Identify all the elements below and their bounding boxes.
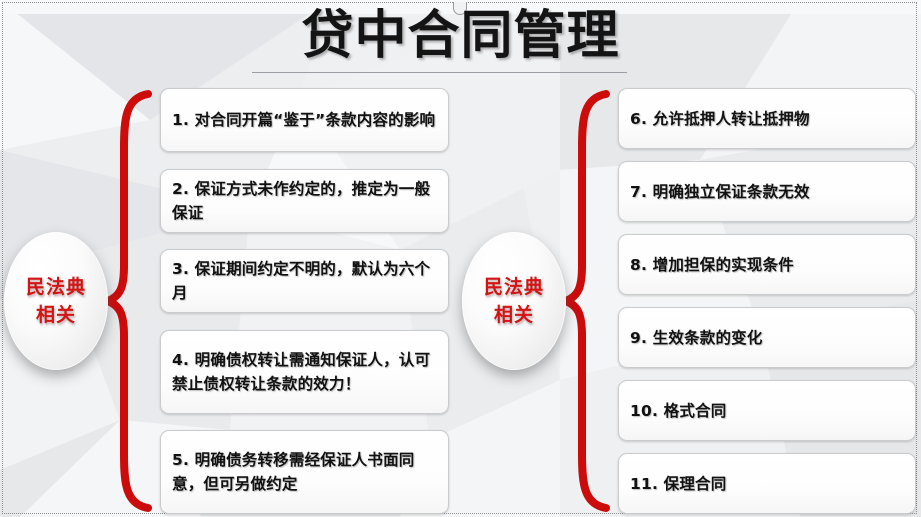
list-item-label: 10. 格式合同: [630, 399, 726, 423]
list-item-label: 3. 保证期间约定不明的，默认为六个月: [172, 257, 439, 305]
badge-left-line1: 民法典: [26, 273, 86, 301]
list-item-label: 5. 明确债务转移需经保证人书面同意，但可另做约定: [172, 448, 439, 496]
list-item-label: 11. 保理合同: [630, 472, 726, 496]
list-item-label: 6. 允许抵押人转让抵押物: [630, 107, 810, 131]
list-item[interactable]: 4. 明确债权转让需通知保证人，认可禁止债权转让条款的效力！: [160, 330, 449, 414]
badge-right-line1: 民法典: [484, 273, 544, 301]
badge-minfadian-right: 民法典 相关: [462, 232, 566, 370]
page-title: 贷中合同管理: [301, 6, 619, 66]
list-item[interactable]: 9. 生效条款的变化: [618, 307, 916, 368]
list-item-label: 9. 生效条款的变化: [630, 326, 763, 350]
curly-brace-left-icon: [104, 88, 156, 514]
list-item[interactable]: 10. 格式合同: [618, 380, 916, 441]
curly-brace-right-icon: [562, 88, 614, 514]
list-item[interactable]: 1. 对合同开篇“鉴于”条款内容的影响: [160, 88, 449, 152]
list-item-label: 1. 对合同开篇“鉴于”条款内容的影响: [172, 108, 435, 132]
list-item[interactable]: 2. 保证方式未作约定的，推定为一般保证: [160, 169, 449, 233]
slide-canvas: 贷中合同管理 民法典 相关 民法典 相关 1. 对合同开篇“鉴于”条款内容的影响…: [0, 0, 921, 517]
list-item[interactable]: 6. 允许抵押人转让抵押物: [618, 88, 916, 149]
list-item[interactable]: 5. 明确债务转移需经保证人书面同意，但可另做约定: [160, 430, 449, 514]
list-item[interactable]: 7. 明确独立保证条款无效: [618, 161, 916, 222]
left-column: 1. 对合同开篇“鉴于”条款内容的影响 2. 保证方式未作约定的，推定为一般保证…: [160, 88, 449, 514]
list-item-label: 8. 增加担保的实现条件: [630, 253, 794, 277]
title-divider: [252, 72, 627, 73]
badge-minfadian-left: 民法典 相关: [4, 232, 108, 370]
list-item-label: 2. 保证方式未作约定的，推定为一般保证: [172, 177, 439, 225]
list-item[interactable]: 3. 保证期间约定不明的，默认为六个月: [160, 249, 449, 313]
list-item[interactable]: 11. 保理合同: [618, 453, 916, 514]
right-column: 6. 允许抵押人转让抵押物 7. 明确独立保证条款无效 8. 增加担保的实现条件…: [618, 88, 916, 514]
badge-right-line2: 相关: [494, 301, 534, 329]
badge-left-line2: 相关: [36, 301, 76, 329]
page-title-container: 贷中合同管理: [0, 6, 921, 66]
list-item[interactable]: 8. 增加担保的实现条件: [618, 234, 916, 295]
list-item-label: 4. 明确债权转让需通知保证人，认可禁止债权转让条款的效力！: [172, 348, 439, 396]
list-item-label: 7. 明确独立保证条款无效: [630, 180, 810, 204]
